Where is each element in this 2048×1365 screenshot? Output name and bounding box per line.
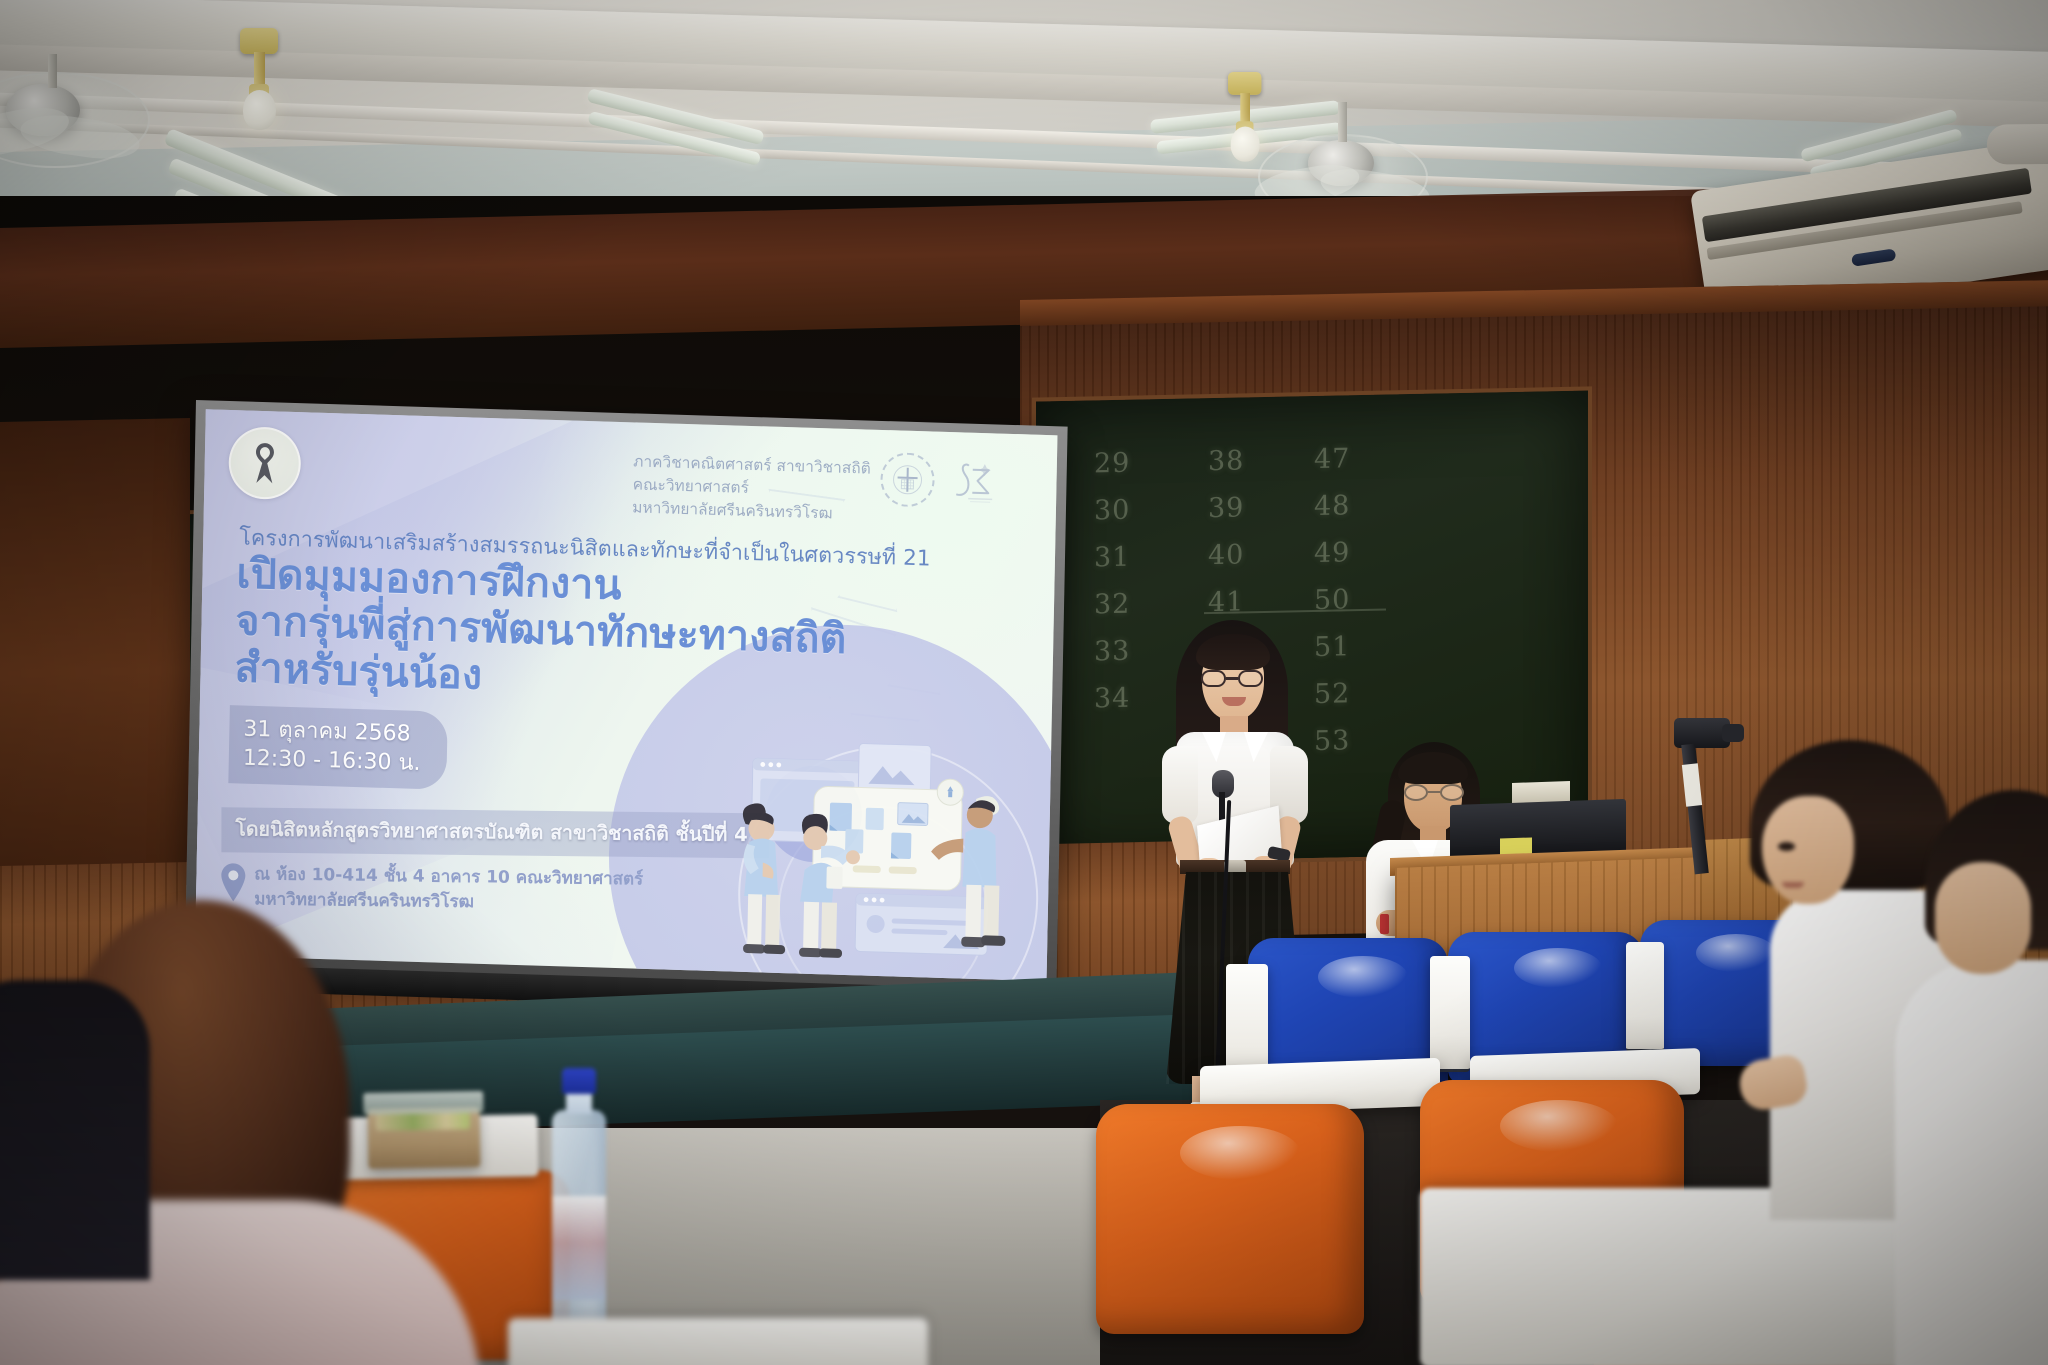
chalk-number: 33 — [1094, 628, 1130, 676]
audience-front-left-2 — [0, 980, 150, 1280]
slide-department-header: ภาควิชาคณิตศาสตร์ สาขาวิชาสถิติ คณะวิทยา… — [632, 450, 871, 526]
chalk-number: 50 — [1314, 576, 1350, 624]
slide-time: 12:30 - 16:30 น. — [243, 744, 421, 778]
audience-shirt — [1895, 960, 2048, 1365]
foreground-desk — [508, 1318, 928, 1365]
chalk-number: 32 — [1094, 581, 1130, 629]
chalk-number: 30 — [1094, 487, 1130, 535]
wrist-bracelet — [1380, 914, 1389, 934]
chalk-number: 48 — [1314, 482, 1350, 530]
lecture-hall-scene: 29 30 31 32 33 34 38 39 40 41 42 43 47 4… — [0, 0, 2048, 1365]
slide-datetime-chip: 31 ตุลาคม 2568 12:30 - 16:30 น. — [228, 705, 447, 790]
chalk-column-1: 29 30 31 32 33 34 — [1094, 440, 1130, 723]
presentation-slide: ภาควิชาคณิตศาสตร์ สาขาวิชาสถิติ คณะวิทยา… — [195, 409, 1058, 981]
chalk-number: 34 — [1094, 675, 1130, 723]
ac-pipe — [1987, 123, 2048, 164]
chalk-number: 49 — [1314, 529, 1350, 577]
chalk-number: 38 — [1208, 437, 1244, 485]
operator-glasses — [1404, 784, 1464, 802]
location-pin-icon — [218, 862, 248, 902]
swu-seal-logo — [880, 452, 935, 508]
chalk-number: 47 — [1314, 435, 1350, 483]
chalk-number: 31 — [1094, 534, 1130, 582]
chalk-number: 41 — [1208, 578, 1244, 626]
slide-presenter-line: โดยนิสิตหลักสูตรวิทยาศาสตรบัณฑิต สาขาวิช… — [221, 807, 769, 858]
statistics-sigma-logo — [944, 454, 1003, 512]
ceiling-fan — [0, 60, 160, 200]
slide-logos — [880, 452, 1013, 524]
slide-title: เปิดมุมมองการฝึกงาน จากรุ่นพี่สู่การพัฒน… — [234, 550, 848, 710]
bottle-label — [552, 1196, 606, 1300]
audience-face — [1762, 796, 1854, 904]
laptop-asset-sticker — [1500, 837, 1532, 854]
people-collaborating-illustration — [715, 721, 1030, 968]
audience-face — [1935, 862, 2031, 974]
orange-lecture-chair[interactable] — [1096, 1104, 1396, 1354]
chalk-number: 40 — [1208, 531, 1244, 579]
audience-right-2 — [1905, 790, 2048, 1350]
chalk-number: 29 — [1094, 440, 1130, 488]
bottle-cap — [562, 1068, 596, 1094]
chalk-number: 39 — [1208, 484, 1244, 532]
presenter-glasses — [1201, 670, 1265, 688]
presenter-fringe — [1196, 634, 1270, 670]
